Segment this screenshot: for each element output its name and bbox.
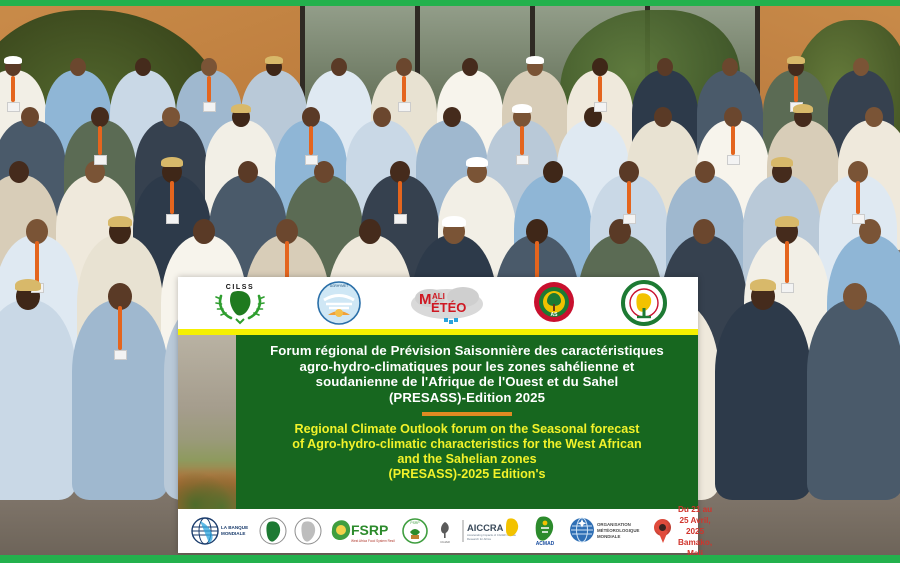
attendee-headwear <box>15 279 41 291</box>
attendee-head <box>359 219 381 244</box>
attendee-head <box>201 58 217 76</box>
svg-text:CILSS: CILSS <box>225 284 254 291</box>
top-green-strip <box>0 0 900 6</box>
attendee-badge <box>94 155 107 165</box>
svg-text:LA BANQUE: LA BANQUE <box>221 525 248 530</box>
attendee-badge <box>781 283 794 293</box>
landscape-vegetation <box>178 467 236 509</box>
attendee-lanyard <box>35 241 39 283</box>
title-fr-line-4: (PRESASS)-Edition 2025 <box>245 390 689 406</box>
attendee-headwear <box>526 56 544 64</box>
event-banner-panel: CILSS AGRH <box>178 277 698 553</box>
attendee-headwear <box>787 56 805 64</box>
attendee-lanyard <box>731 126 735 155</box>
title-fr-line-3: soudanienne de l'Afrique de l'Ouest et d… <box>245 374 689 390</box>
attendee-headwear <box>750 279 776 291</box>
attendee-lanyard <box>170 181 174 214</box>
bottom-green-strip <box>0 555 900 563</box>
attendee-badge <box>166 214 179 224</box>
attendee-badge <box>203 102 216 112</box>
attendee-head <box>238 161 258 183</box>
attendee-badge <box>394 214 407 224</box>
attendee <box>807 300 900 500</box>
attendee-lanyard <box>118 306 122 350</box>
organiser-logo-bar: CILSS AGRH <box>178 277 698 329</box>
attendee-headwear <box>108 216 132 227</box>
attendee-badge <box>623 214 636 224</box>
attendee-headwear <box>4 56 22 64</box>
attendee-headwear <box>775 216 799 227</box>
attendee-head <box>848 161 868 183</box>
attendee-badge <box>594 102 607 112</box>
attendee-head <box>619 161 639 183</box>
attendee-badge <box>516 155 529 165</box>
title-fr-line-1: Forum régional de Prévision Saisonnière … <box>245 343 689 359</box>
svg-text:MONDIALE: MONDIALE <box>597 534 620 539</box>
event-dates: Du 21 au 25 Avril, 2025 <box>678 504 712 537</box>
attendee-badge <box>727 155 740 165</box>
attendee-headwear <box>771 157 793 167</box>
attendee-lanyard <box>11 76 15 102</box>
attendee-head <box>373 107 391 127</box>
attendee-lanyard <box>98 126 102 155</box>
title-fr-line-2: agro-hydro-climatiques pour les zones sa… <box>245 359 689 375</box>
cilss-logo: CILSS <box>209 280 271 326</box>
partner-footer: LA BANQUE MONDIALE <box>178 509 698 553</box>
attendee-lanyard <box>402 76 406 102</box>
location-pin-icon <box>654 519 671 543</box>
attendee-head <box>543 161 563 183</box>
mali-meteo-logo: M ALI ÉTÉO <box>408 280 486 326</box>
banner-stage: CILSS AGRH <box>0 0 900 563</box>
attendee-head <box>193 219 215 244</box>
agrhymet-logo: AGRHYMET <box>316 280 362 326</box>
svg-text:ACMAD: ACMAD <box>536 541 555 547</box>
attendee-badge <box>114 350 127 360</box>
attendee <box>715 300 811 500</box>
attendee-lanyard <box>785 241 789 283</box>
svg-text:FSRP: FSRP <box>351 522 388 538</box>
attendee-head <box>162 107 180 127</box>
cgiar-logo: CGIAR <box>435 518 455 544</box>
aiccra-logo: AICCRA Accelerating Impacts of CGIAR Cli… <box>462 514 522 548</box>
title-en-line-2: of Agro-hydro-climatic characteristics f… <box>243 437 691 452</box>
attendee-lanyard <box>627 181 631 214</box>
attendee <box>0 300 76 500</box>
attendee-lanyard <box>520 126 524 155</box>
svg-text:AICCRA: AICCRA <box>467 522 504 533</box>
landscape-photo-strip <box>178 335 236 509</box>
svg-text:MONDIALE: MONDIALE <box>221 531 246 536</box>
attendee-head <box>21 107 39 127</box>
title-en-line-1: Regional Climate Outlook forum on the Se… <box>243 422 691 437</box>
banner-title-block: Forum régional de Prévision Saisonnière … <box>178 335 698 509</box>
title-en-line-3: and the Sahelian zones <box>243 452 691 467</box>
orange-divider <box>422 412 512 416</box>
attendee-headwear <box>265 56 283 64</box>
svg-text:Research for Africa: Research for Africa <box>467 537 491 541</box>
partner-logo-row: LA BANQUE MONDIALE <box>178 514 642 548</box>
title-en-line-4: (PRESASS)-2025 Edition's <box>243 467 691 482</box>
as-seal-logo: AS <box>532 280 576 326</box>
africa-circle-logo-1 <box>259 516 287 546</box>
attendee-lanyard <box>207 76 211 102</box>
svg-text:West Africa Food System Resili: West Africa Food System Resilience <box>351 539 395 543</box>
world-bank-logo: LA BANQUE MONDIALE <box>190 515 252 547</box>
svg-text:ORGANISATION: ORGANISATION <box>597 522 631 527</box>
attendee-badge <box>7 102 20 112</box>
attendee-badge <box>852 214 865 224</box>
svg-text:ÉTÉO: ÉTÉO <box>431 300 466 315</box>
wmo-logo: ORGANISATION MÉTÉOROLOGIQUE MONDIALE <box>568 514 642 548</box>
attendee-headwear <box>442 216 466 227</box>
attendee-lanyard <box>309 126 313 155</box>
attendee-head <box>9 161 29 183</box>
attendee-headwear <box>161 157 183 167</box>
fsrp-logo: FSRP West Africa Food System Resilience <box>329 514 395 548</box>
attendee-head <box>654 107 672 127</box>
svg-text:PSRP: PSRP <box>410 521 420 525</box>
psrp-circle-logo: PSRP <box>402 516 428 546</box>
event-date-location: Du 21 au 25 Avril, 2025 Bamako, Mali <box>642 504 712 559</box>
acmad-logo: ACMAD <box>529 514 561 548</box>
attendee-head <box>843 283 867 310</box>
attendee-lanyard <box>856 181 860 214</box>
ecowas-cedeao-logo <box>621 280 667 326</box>
attendee-badge <box>398 102 411 112</box>
attendee-head <box>865 107 883 127</box>
svg-text:MÉTÉOROLOGIQUE: MÉTÉOROLOGIQUE <box>597 528 640 533</box>
attendee-headwear <box>793 104 813 113</box>
attendee-headwear <box>512 104 532 113</box>
attendee-lanyard <box>398 181 402 214</box>
svg-text:AS: AS <box>550 312 558 318</box>
svg-text:AGRHYMET: AGRHYMET <box>330 284 348 288</box>
attendee-head <box>693 219 715 244</box>
svg-text:M: M <box>419 291 432 308</box>
svg-text:CGIAR: CGIAR <box>440 540 450 544</box>
attendee-headwear <box>231 104 251 113</box>
attendee-headwear <box>466 157 488 167</box>
attendee-badge <box>305 155 318 165</box>
africa-circle-logo-2 <box>294 516 322 546</box>
attendee-lanyard <box>794 76 798 102</box>
attendee-head <box>462 58 478 76</box>
attendee-head <box>443 107 461 127</box>
attendee-lanyard <box>598 76 602 102</box>
